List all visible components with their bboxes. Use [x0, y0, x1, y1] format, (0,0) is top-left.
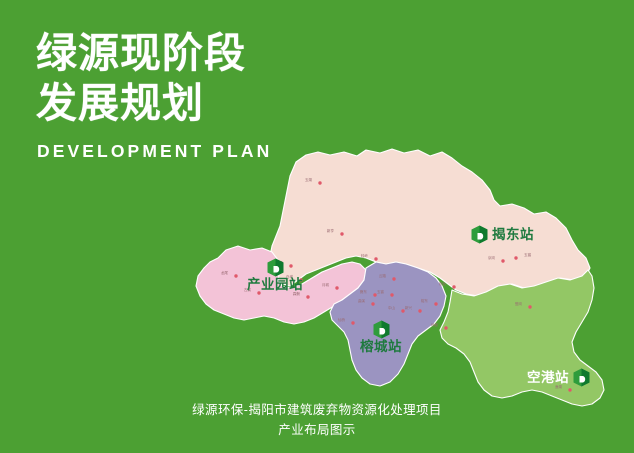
lvyuan-logo-icon	[471, 225, 488, 244]
svg-text:月城: 月城	[322, 282, 330, 287]
svg-text:炮台: 炮台	[439, 281, 447, 286]
station-marker-chanyeyuan[interactable]: 产业园站	[247, 258, 303, 292]
svg-text:龙尾: 龙尾	[221, 270, 229, 275]
svg-text:仙桥: 仙桥	[338, 317, 346, 322]
lvyuan-logo-icon	[373, 320, 390, 339]
station-marker-konggang[interactable]: 空港站	[527, 368, 590, 387]
svg-text:磐东: 磐东	[360, 289, 368, 294]
svg-text:新亨: 新亨	[327, 228, 335, 233]
caption-line2: 产业布局图示	[0, 420, 634, 441]
svg-text:云路: 云路	[379, 273, 387, 278]
caption-block: 绿源环保-揭阳市建筑废弃物资源化处理项目 产业布局图示	[0, 400, 634, 441]
svg-text:玉窖: 玉窖	[377, 289, 385, 294]
svg-text:玉窖: 玉窖	[524, 252, 532, 257]
station-label-chanyeyuan: 产业园站	[247, 278, 303, 292]
station-label-rongcheng: 榕城站	[360, 340, 402, 354]
svg-text:玉湖: 玉湖	[305, 177, 313, 182]
svg-text:桂岭: 桂岭	[361, 253, 369, 258]
caption-line1: 绿源环保-揭阳市建筑废弃物资源化处理项目	[0, 400, 634, 421]
lvyuan-logo-icon	[267, 258, 284, 277]
svg-text:中山: 中山	[388, 305, 396, 310]
station-marker-rongcheng[interactable]: 榕城站	[360, 320, 402, 354]
svg-text:地都: 地都	[431, 322, 439, 327]
lvyuan-logo-icon	[573, 368, 590, 387]
station-marker-jiedong[interactable]: 揭东站	[471, 225, 534, 244]
station-label-jiedong: 揭东站	[492, 228, 534, 242]
svg-text:京岗: 京岗	[488, 255, 496, 260]
svg-text:新兴: 新兴	[405, 305, 413, 310]
poster-root: 玉湖 新亨 桂岭 锡场 白塔 月城 龙尾 霖磐 云路 玉窖 磐东 曲溪 中山 新…	[0, 0, 634, 453]
svg-text:曲溪: 曲溪	[358, 298, 366, 303]
svg-text:榕东: 榕东	[421, 298, 429, 303]
svg-text:登岗: 登岗	[515, 301, 523, 306]
station-label-konggang: 空港站	[527, 371, 569, 385]
